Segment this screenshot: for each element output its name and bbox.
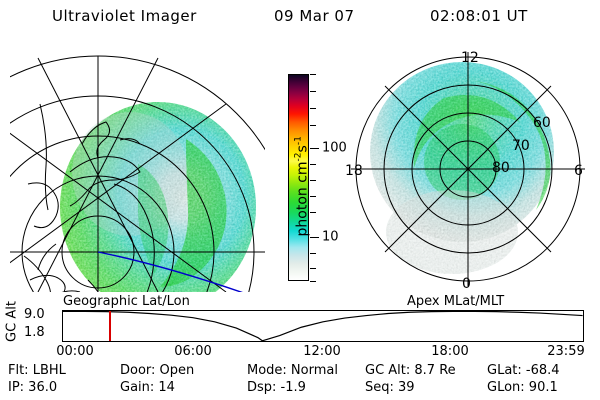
header-bar: Ultraviolet Imager 09 Mar 07 02:08:01 UT (0, 7, 600, 31)
geo-aurora-emission (60, 102, 256, 292)
status-filter: Flt: LBHL (8, 363, 66, 378)
status-gain: Gain: 14 (120, 380, 175, 395)
mlt-label-12: 12 (461, 50, 479, 66)
mlt-label-6: 6 (574, 163, 583, 179)
mlt-label-0: 0 (462, 276, 471, 292)
mlt-dial-grid (351, 52, 585, 286)
strip-plot-frame (62, 310, 584, 342)
status-seq: Seq: 39 (365, 380, 415, 395)
mlat-label-70: 70 (512, 138, 530, 154)
mlt-aurora-emission (370, 62, 554, 274)
strip-y-max-label: 9.0 (24, 308, 45, 321)
strip-xtick-3: 18:00 (431, 344, 468, 359)
colorbar-unit-main: photon cm (294, 161, 310, 236)
status-dsp: Dsp: -1.9 (247, 380, 306, 395)
status-mode: Mode: Normal (247, 363, 338, 378)
mlat-label-60: 60 (533, 115, 551, 131)
instrument-title: Ultraviolet Imager (52, 7, 197, 25)
colorbar-unit-mid: s (294, 145, 310, 152)
status-glon: GLon: 90.1 (487, 380, 558, 395)
strip-curve (63, 311, 583, 341)
strip-y-axis-title: GC Alt (5, 294, 20, 350)
geographic-polar-plot[interactable] (10, 44, 265, 292)
current-time-marker (109, 311, 111, 341)
strip-xtick-1: 06:00 (174, 344, 211, 359)
mlt-label-18: 18 (345, 163, 363, 179)
status-gc-alt: GC Alt: 8.7 Re (365, 363, 456, 378)
colorbar-label-10: 10 (322, 231, 339, 244)
colorbar-unit-exp1: -2 (294, 152, 304, 161)
uvi-display: Ultraviolet Imager 09 Mar 07 02:08:01 UT (0, 0, 600, 400)
apex-mlt-polar-plot[interactable]: 12 6 0 18 60 70 80 (340, 44, 595, 292)
colorbar-axis-title: photon cm-2s-1 (294, 96, 311, 276)
strip-xtick-2: 12:00 (303, 344, 340, 359)
status-glat: GLat: -68.4 (487, 363, 560, 378)
colorbar-unit-exp2: -1 (294, 136, 304, 145)
strip-xtick-4: 23:59 (547, 344, 584, 359)
observation-date: 09 Mar 07 (274, 7, 355, 25)
mlat-label-80: 80 (492, 160, 510, 176)
colorbar-group: 100 10 photon cm-2s-1 (265, 44, 345, 294)
status-door: Door: Open (120, 363, 194, 378)
observation-time: 02:08:01 UT (430, 7, 528, 25)
status-ip: IP: 36.0 (8, 380, 57, 395)
strip-xtick-0: 00:00 (56, 344, 93, 359)
strip-y-min-label: 1.8 (24, 326, 45, 339)
orbit-altitude-strip-chart[interactable]: GC Alt 9.0 1.8 00:00 06:00 12:00 18:00 2… (0, 306, 600, 358)
status-footer: Flt: LBHL Door: Open Mode: Normal GC Alt… (0, 363, 600, 399)
